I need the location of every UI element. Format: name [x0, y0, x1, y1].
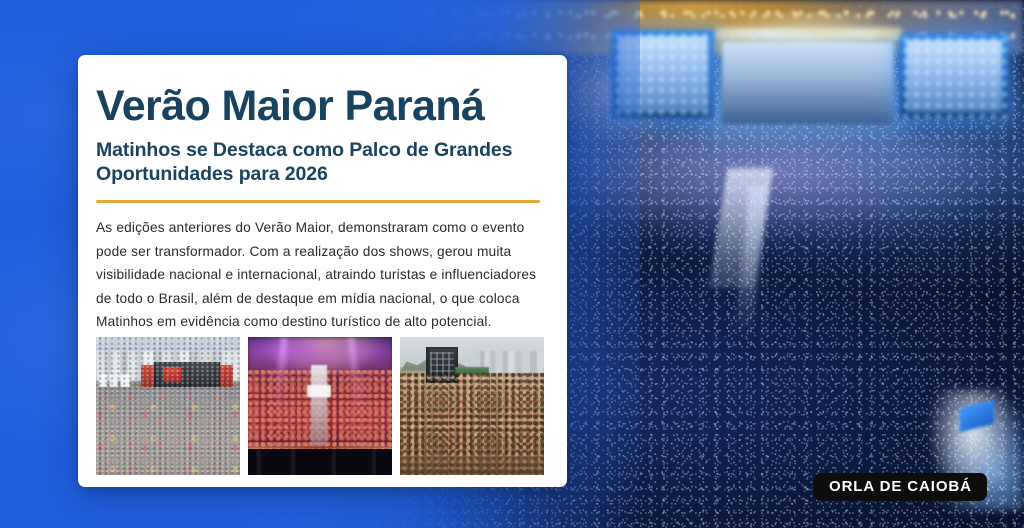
- location-caption-badge: ORLA DE CAIOBÁ: [814, 473, 987, 501]
- thumb3-sand: [400, 456, 544, 475]
- thumbnail-daytime-beach-stage[interactable]: [96, 337, 240, 475]
- page-subtitle: Matinhos se Destaca como Palco de Grande…: [96, 138, 539, 187]
- thumbnail-gallery: [96, 337, 544, 475]
- led-screen-right: [900, 34, 1008, 118]
- thumbnail-night-concert[interactable]: [248, 337, 392, 475]
- thumb1-grain: [96, 337, 240, 475]
- thumb2-speaker-stacks: [248, 449, 392, 475]
- stage-center-screen: [722, 42, 894, 124]
- stage-truss-lights: [716, 28, 902, 40]
- slide-canvas: Verão Maior Paraná Matinhos se Destaca c…: [0, 0, 1024, 528]
- body-paragraph: As edições anteriores do Verão Maior, de…: [96, 216, 554, 334]
- thumbnail-golden-beach-crowd[interactable]: [400, 337, 544, 475]
- thumb2-delay-tower: [311, 365, 327, 445]
- gold-divider: [96, 200, 540, 203]
- page-title: Verão Maior Paraná: [96, 85, 539, 129]
- concert-stage-rig: [590, 12, 1024, 152]
